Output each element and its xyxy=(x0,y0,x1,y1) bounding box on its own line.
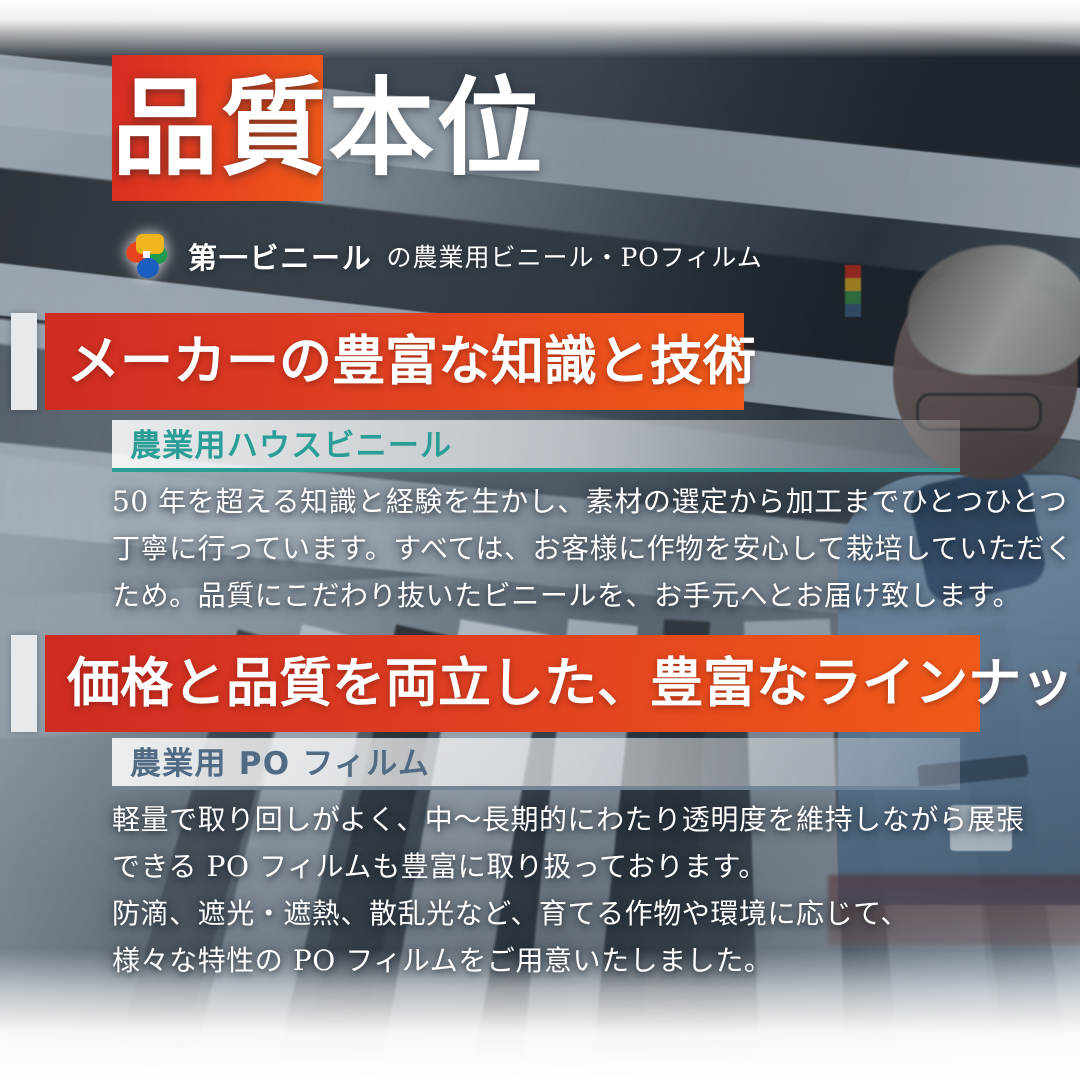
subhead-label: 農業用 PO フィルム xyxy=(112,742,430,786)
body-line: 50 年を超える知識と経験を生かし、素材の選定から加工までひとつひとつ xyxy=(112,478,992,525)
promo-banner: 品質 本位 第一ビニール の農業用ビニール・POフィルム メーカーの豊富な知識と… xyxy=(0,0,1080,1080)
hero-title: 品質 本位 xyxy=(112,55,545,201)
section-body-house-vinyl: 50 年を超える知識と経験を生かし、素材の選定から加工までひとつひとつ 丁寧に行… xyxy=(112,478,992,619)
four-petal-pinwheel-logo-icon xyxy=(118,228,174,284)
section-body-po-film: 軽量で取り回しがよく、中〜長期的にわたり透明度を維持しながら展張 できる PO … xyxy=(112,796,992,984)
body-line: できる PO フィルムも豊富に取り扱っております。 xyxy=(112,843,992,890)
brand-name: 第一ビニール xyxy=(188,235,372,277)
subhead-house-vinyl: 農業用ハウスビニール xyxy=(112,420,960,472)
body-line: 防滴、遮光・遮熱、散乱光など、育てる作物や環境に応じて、 xyxy=(112,890,992,937)
section-accent-bar xyxy=(11,313,37,410)
body-line: 様々な特性の PO フィルムをご用意いたしました。 xyxy=(112,937,992,984)
section-band-knowledge: メーカーの豊富な知識と技術 xyxy=(45,313,744,410)
subhead-po-film: 農業用 PO フィルム xyxy=(112,738,960,790)
hero-title-highlight: 品質 xyxy=(112,55,328,201)
section-band-label: メーカーの豊富な知識と技術 xyxy=(67,335,756,388)
body-line: 丁寧に行っています。すべては、お客様に作物を安心して栽培していただく xyxy=(112,525,992,572)
section-accent-bar xyxy=(11,635,37,732)
hero-title-rest: 本位 xyxy=(328,55,544,201)
brand-tagline: の農業用ビニール・POフィルム xyxy=(386,238,762,274)
body-line: ため。品質にこだわり抜いたビニールを、お手元へとお届け致します。 xyxy=(112,572,992,619)
section-band-lineup: 価格と品質を両立した、豊富なラインナップ xyxy=(45,635,980,732)
body-line: 軽量で取り回しがよく、中〜長期的にわたり透明度を維持しながら展張 xyxy=(112,796,992,843)
banner-content: 品質 本位 第一ビニール の農業用ビニール・POフィルム メーカーの豊富な知識と… xyxy=(0,0,1080,1080)
brand-line: 第一ビニール の農業用ビニール・POフィルム xyxy=(118,228,763,284)
section-band-label: 価格と品質を両立した、豊富なラインナップ xyxy=(67,657,1080,710)
subhead-label: 農業用ハウスビニール xyxy=(112,424,452,468)
